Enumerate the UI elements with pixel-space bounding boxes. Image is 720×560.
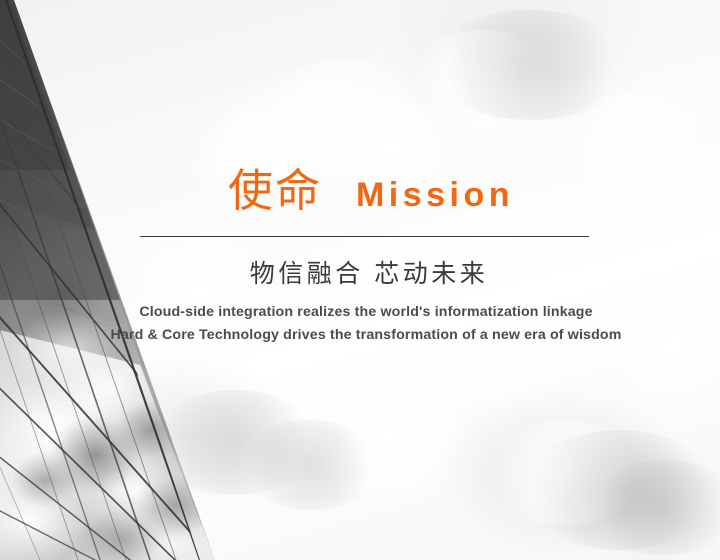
banner-content: 使命Mission 物信融合 芯动未来 Cloud-side integrati… bbox=[0, 0, 720, 560]
banner-tagline: Cloud-side integration realizes the worl… bbox=[0, 301, 720, 347]
title-english: Mission bbox=[356, 178, 514, 212]
tagline-line-2: Hard & Core Technology drives the transf… bbox=[12, 324, 720, 347]
title-chinese: 使命 bbox=[228, 168, 322, 213]
tagline-line-1: Cloud-side integration realizes the worl… bbox=[12, 301, 720, 324]
banner-title: 使命Mission bbox=[0, 168, 720, 213]
title-divider-line bbox=[140, 236, 589, 237]
banner-subtitle: 物信融合 芯动未来 bbox=[0, 258, 720, 290]
mission-banner: 使命Mission 物信融合 芯动未来 Cloud-side integrati… bbox=[0, 0, 720, 560]
